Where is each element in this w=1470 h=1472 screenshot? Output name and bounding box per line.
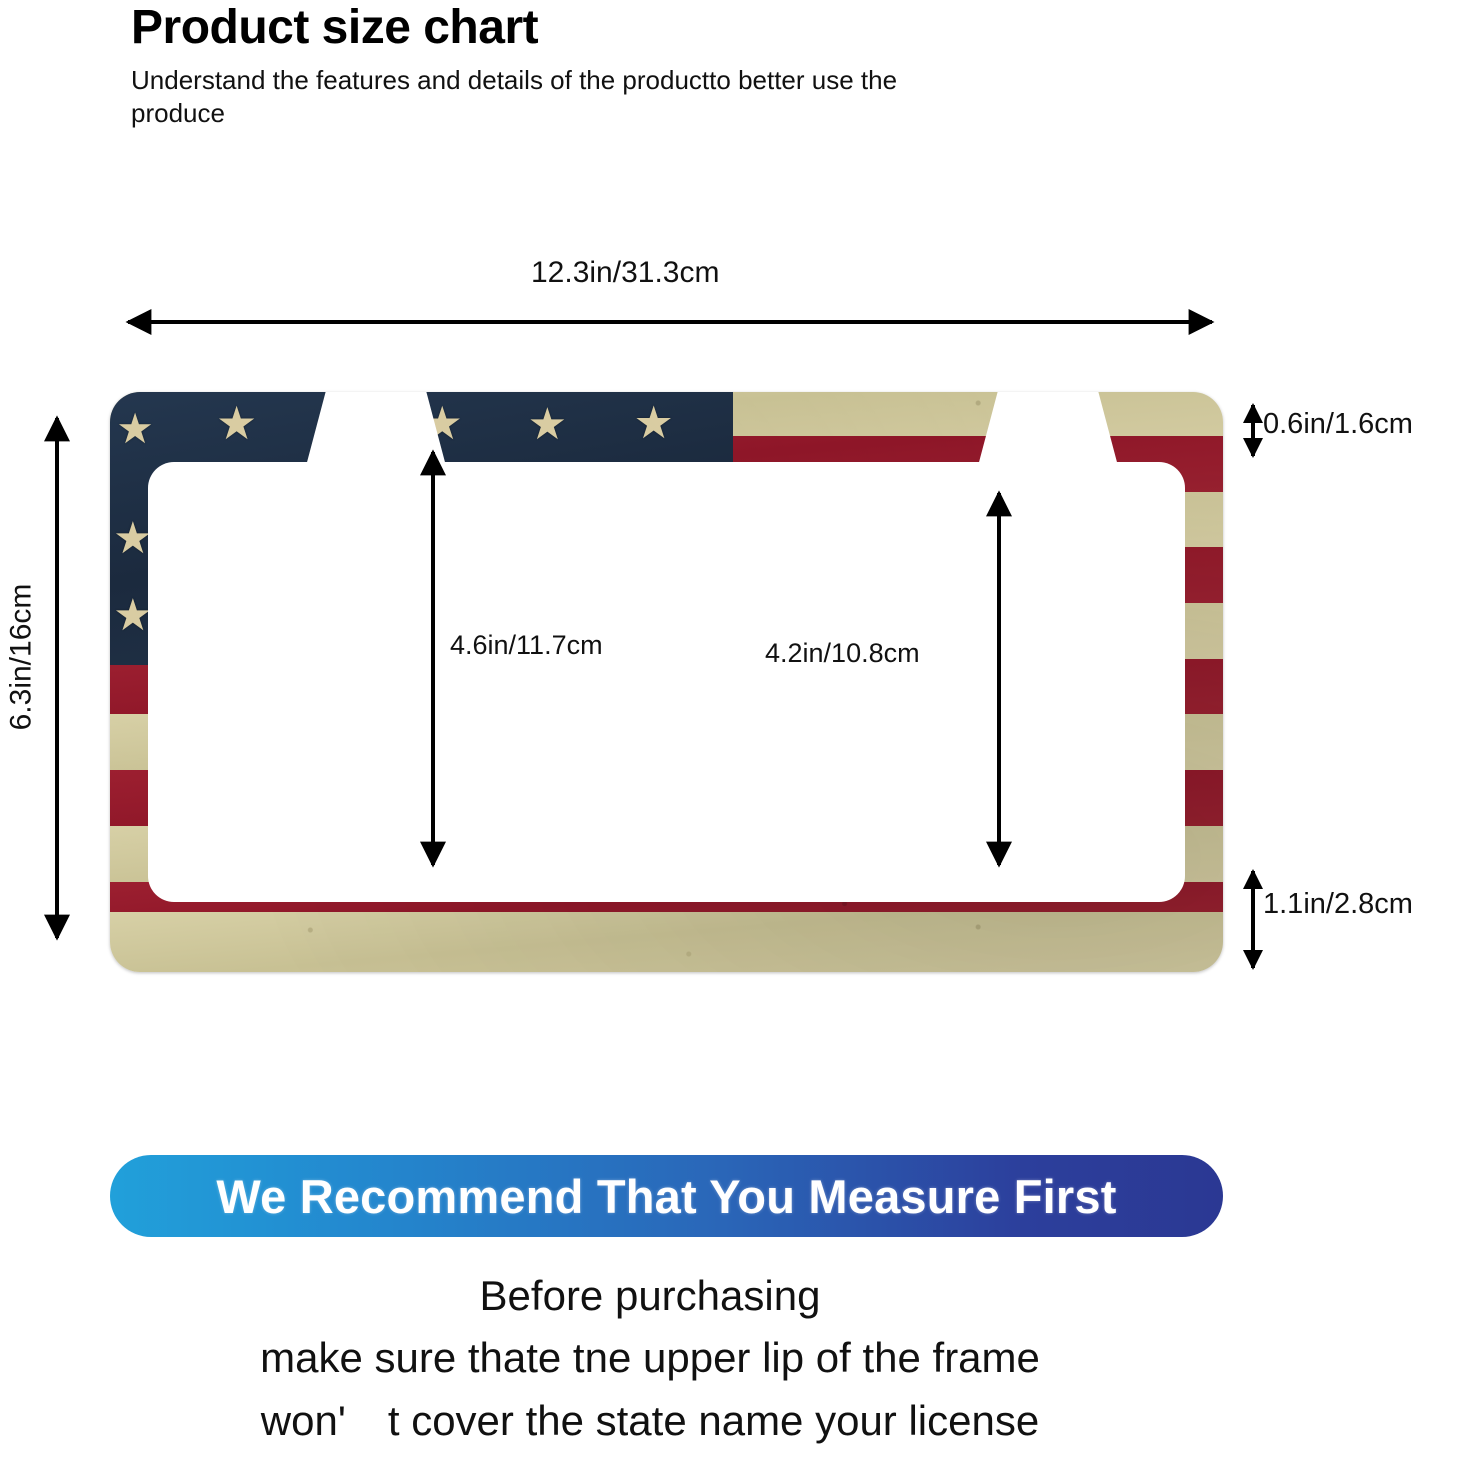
page-header: Product size chart Understand the featur… [131, 2, 1031, 130]
page-subtitle: Understand the features and details of t… [131, 64, 921, 131]
page-title: Product size chart [131, 2, 1031, 54]
advice-line: won' t cover the state name your license [0, 1393, 1300, 1448]
width-dimension-label: 12.3in/31.3cm [531, 256, 719, 290]
dimension-arrows [0, 240, 1470, 1030]
advice-line: make sure thate tne upper lip of the fra… [0, 1330, 1300, 1385]
inner-left-dimension-label: 4.6in/11.7cm [450, 630, 603, 661]
purchase-advice-text: Before purchasing make sure thate tne up… [0, 1268, 1300, 1455]
inner-right-dimension-label: 4.2in/10.8cm [765, 638, 920, 669]
top-rail-dimension-label: 0.6in/1.6cm [1263, 408, 1413, 441]
recommendation-banner-text: We Recommend That You Measure First [216, 1169, 1116, 1224]
size-chart-diagram: ★ ★ ★ ★ ★ ★ ★ ★ ★ ★ ★ [0, 240, 1470, 1030]
recommendation-banner: We Recommend That You Measure First [110, 1155, 1223, 1237]
height-dimension-label: 6.3in/16cm [4, 584, 38, 731]
bottom-rail-dimension-label: 1.1in/2.8cm [1263, 888, 1413, 921]
advice-line: Before purchasing [0, 1268, 1300, 1323]
